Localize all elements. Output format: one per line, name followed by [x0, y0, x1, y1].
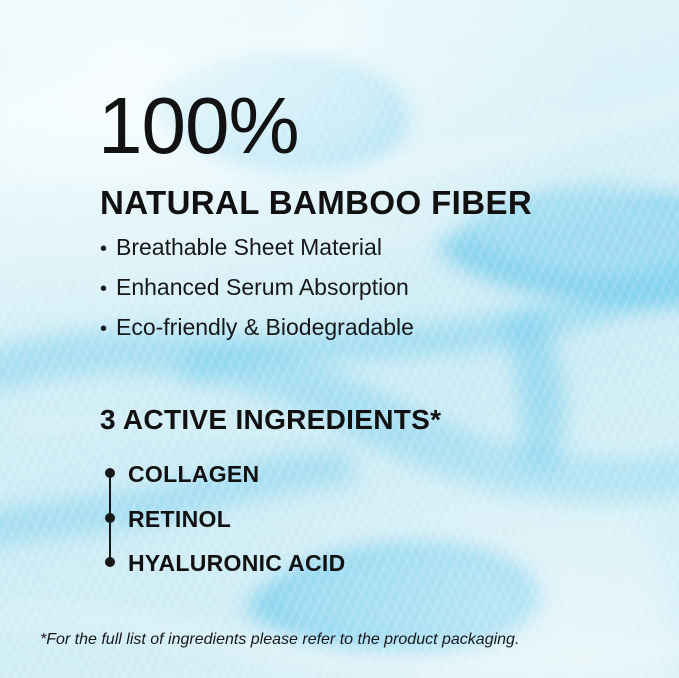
- ingredient-label: RETINOL: [128, 508, 231, 531]
- bullet-dot-icon: •: [100, 239, 116, 259]
- headline-subtitle: NATURAL BAMBOO FIBER: [100, 186, 532, 219]
- feature-list-item: • Breathable Sheet Material: [100, 236, 414, 259]
- bullet-dot-icon: •: [100, 319, 116, 339]
- feature-label: Enhanced Serum Absorption: [116, 276, 409, 299]
- feature-list-item: • Eco-friendly & Biodegradable: [100, 316, 414, 339]
- product-infographic: 100% NATURAL BAMBOO FIBER • Breathable S…: [0, 0, 679, 678]
- ingredients-section-title: 3 ACTIVE INGREDIENTS*: [100, 406, 441, 434]
- headline-percentage: 100%: [98, 86, 299, 166]
- feature-list-item: • Enhanced Serum Absorption: [100, 276, 414, 299]
- footnote-disclaimer: *For the full list of ingredients please…: [40, 630, 519, 649]
- node-dot-icon: [105, 513, 115, 523]
- ingredient-label: COLLAGEN: [128, 463, 259, 486]
- feature-label: Breathable Sheet Material: [116, 236, 382, 259]
- content-layer: 100% NATURAL BAMBOO FIBER • Breathable S…: [0, 0, 679, 678]
- node-dot-icon: [105, 557, 115, 567]
- ingredients-list: COLLAGEN RETINOL HYALURONIC ACID: [100, 463, 430, 575]
- feature-list: • Breathable Sheet Material • Enhanced S…: [100, 236, 414, 356]
- node-dot-icon: [105, 468, 115, 478]
- feature-label: Eco-friendly & Biodegradable: [116, 316, 414, 339]
- bullet-dot-icon: •: [100, 279, 116, 299]
- ingredient-label: HYALURONIC ACID: [128, 552, 345, 575]
